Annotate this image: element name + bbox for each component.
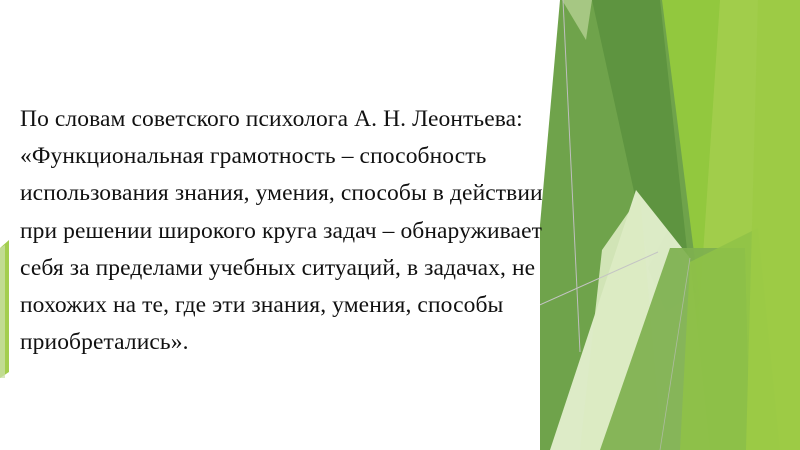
left-lime-sliver	[0, 240, 9, 378]
ribbon-pale-sheet-narrow	[580, 196, 662, 450]
decorative-green-ribbons-right	[540, 0, 800, 450]
ribbon-bright-green-field	[580, 0, 800, 450]
ribbon-lime-wedge	[690, 0, 800, 450]
slide-body-text: По словам советского психолога А. Н. Лео…	[20, 101, 576, 361]
ribbon-darkest-notch	[648, 230, 696, 312]
ribbon-green-lower-sheet	[600, 248, 750, 450]
ribbon-right-bright-sliver	[746, 0, 800, 450]
ribbon-lime-lower-diagonal	[680, 228, 780, 450]
ribbon-top-pale-triangle	[562, 0, 592, 40]
slide-canvas: По словам советского психолога А. Н. Лео…	[0, 0, 800, 450]
hairline-steep	[660, 258, 690, 450]
ribbon-dark-green-column	[592, 0, 692, 310]
left-pale-sliver	[0, 245, 5, 378]
